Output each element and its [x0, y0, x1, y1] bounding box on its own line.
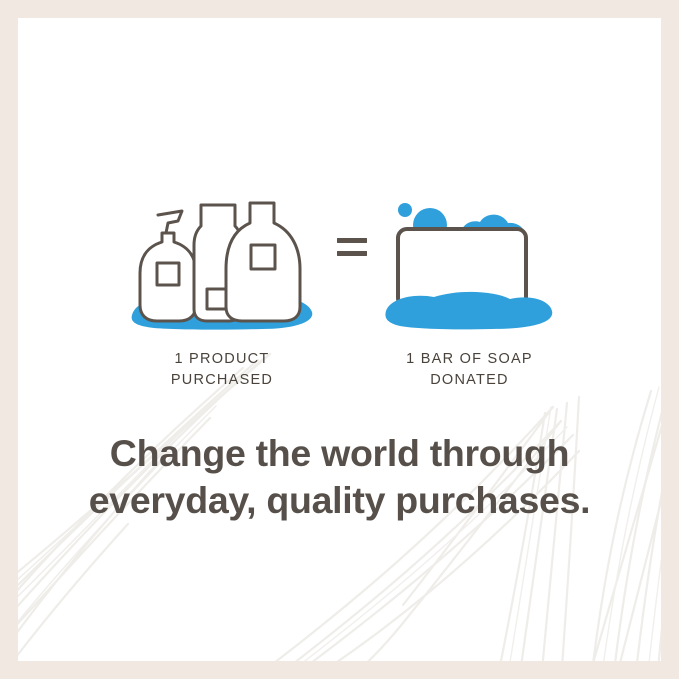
product-bottles-icon: [122, 193, 322, 333]
poster-frame: 1 PRODUCT PURCHASED: [0, 0, 679, 679]
water-puddle-right: [385, 292, 552, 329]
purchase-caption: 1 PRODUCT PURCHASED: [171, 349, 273, 390]
tube-bottle-label: [207, 289, 227, 309]
purchase-block: 1 PRODUCT PURCHASED: [122, 193, 322, 390]
soap-bar-icon: [382, 193, 557, 333]
equals-sign: [336, 235, 368, 261]
equals-sign-wrapper: [322, 193, 382, 261]
donation-block: 1 BAR OF SOAP DONATED: [382, 193, 557, 390]
headline: Change the world through everyday, quali…: [18, 430, 661, 523]
pump-nozzle: [158, 211, 182, 233]
pump-bottle-label: [157, 263, 179, 285]
poster-canvas: 1 PRODUCT PURCHASED: [18, 18, 661, 661]
donation-caption: 1 BAR OF SOAP DONATED: [406, 349, 533, 390]
round-bottle-label: [251, 245, 275, 269]
impact-icon-row: 1 PRODUCT PURCHASED: [18, 193, 661, 390]
